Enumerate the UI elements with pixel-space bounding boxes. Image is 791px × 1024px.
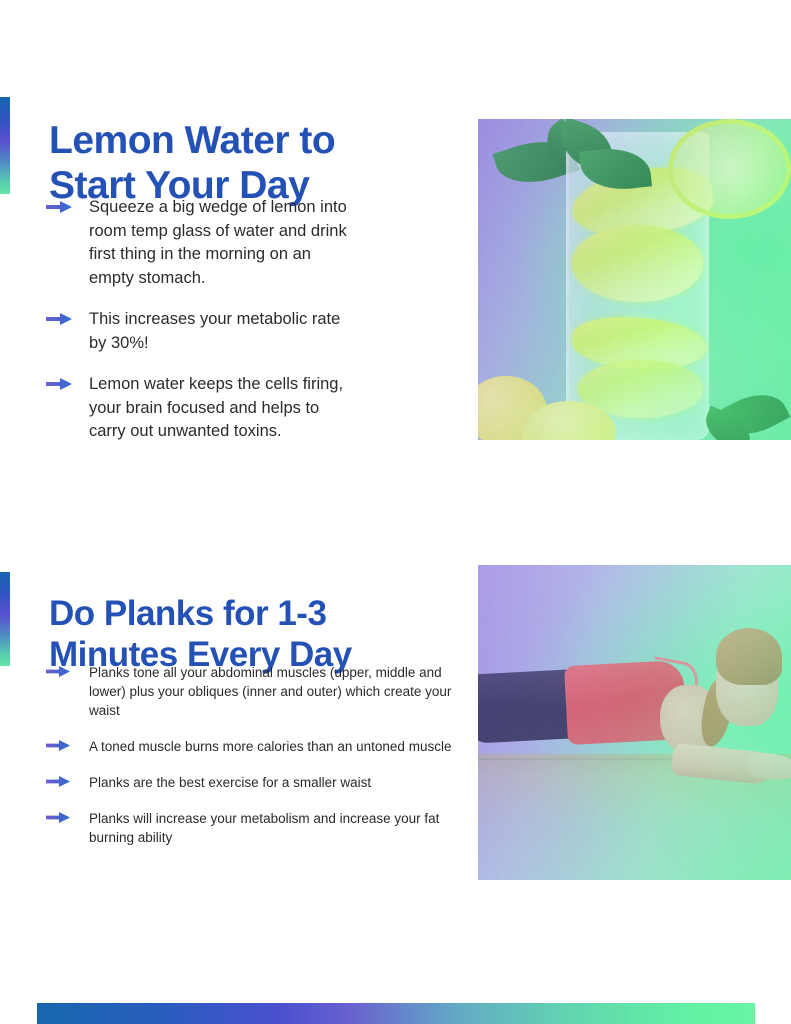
list-item: Squeeze a big wedge of lemon into room t…	[44, 196, 354, 290]
bullet-list-lemon-water: Squeeze a big wedge of lemon into room t…	[44, 196, 354, 462]
list-item: Planks will increase your metabolism and…	[44, 809, 456, 847]
list-item: Planks are the best exercise for a small…	[44, 773, 456, 792]
section-heading-lemon-water: Lemon Water to Start Your Day	[49, 118, 449, 208]
right-arrow-icon	[46, 377, 72, 391]
list-item: Planks tone all your abdominal muscles (…	[44, 663, 456, 720]
right-arrow-icon	[46, 775, 70, 788]
list-item-text: Planks will increase your metabolism and…	[89, 809, 456, 847]
right-arrow-icon	[46, 200, 72, 214]
list-item-text: Planks tone all your abdominal muscles (…	[89, 663, 456, 720]
bullet-list-planks: Planks tone all your abdominal muscles (…	[44, 663, 456, 864]
list-item-text: This increases your metabolic rate by 30…	[89, 308, 354, 355]
list-item: Lemon water keeps the cells firing, your…	[44, 373, 354, 444]
list-item-text: Squeeze a big wedge of lemon into room t…	[89, 196, 354, 290]
right-arrow-icon	[46, 665, 70, 678]
list-item: A toned muscle burns more calories than …	[44, 737, 456, 756]
list-item: This increases your metabolic rate by 30…	[44, 308, 354, 355]
section-accent-bar-2	[0, 572, 10, 666]
right-arrow-icon	[46, 739, 70, 752]
photo-lemon-water	[478, 119, 791, 440]
duotone-highlight-overlay	[478, 119, 791, 440]
list-item-text: Lemon water keeps the cells firing, your…	[89, 373, 354, 444]
footer-gradient-bar	[37, 1003, 755, 1024]
list-item-text: Planks are the best exercise for a small…	[89, 773, 456, 792]
duotone-highlight-overlay	[478, 565, 791, 880]
list-item-text: A toned muscle burns more calories than …	[89, 737, 456, 756]
right-arrow-icon	[46, 312, 72, 326]
photo-plank-exercise	[478, 565, 791, 880]
infographic-page: Lemon Water to Start Your Day Squeeze a …	[0, 0, 791, 1024]
right-arrow-icon	[46, 811, 70, 824]
section-accent-bar-1	[0, 97, 10, 194]
